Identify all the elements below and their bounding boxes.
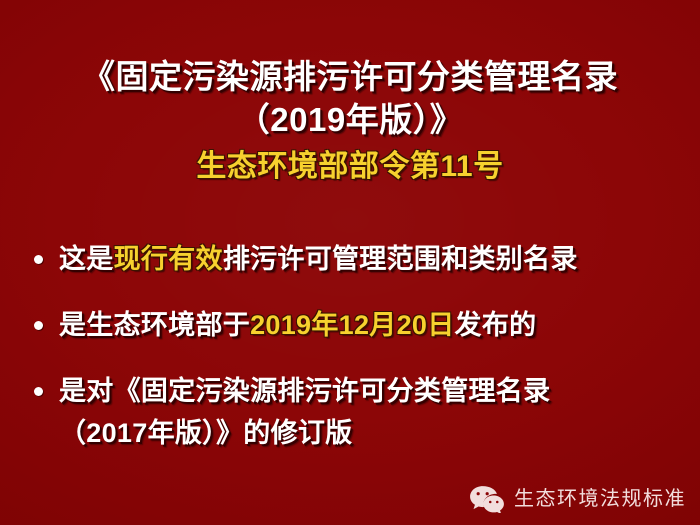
watermark: 生态环境法规标准	[469, 485, 686, 513]
list-item: 是生态环境部于2019年12月20日发布的	[34, 304, 680, 346]
plain-text: （2017年版）》的修订版	[59, 418, 352, 448]
list-item-line: 这是现行有效排污许可管理范围和类别名录	[59, 238, 680, 280]
watermark-label: 生态环境法规标准	[514, 487, 686, 511]
list-item-body: 是对《固定污染源排污许可分类管理名录（2017年版）》的修订版	[59, 370, 680, 454]
bullet-marker-icon	[34, 255, 43, 264]
highlighted-text: 2019年12月20日	[250, 310, 454, 340]
bullet-marker-icon	[34, 321, 43, 330]
page-title-line-2: （2019年版）》	[0, 98, 700, 141]
list-item: 是对《固定污染源排污许可分类管理名录（2017年版）》的修订版	[34, 370, 680, 454]
page-title-line-1: 《固定污染源排污许可分类管理名录	[0, 55, 700, 98]
title-block: 《固定污染源排污许可分类管理名录 （2019年版）》 生态环境部部令第11号	[0, 55, 700, 186]
plain-text: 是对《固定污染源排污许可分类管理名录	[59, 376, 550, 406]
list-item-line: 是生态环境部于2019年12月20日发布的	[59, 304, 680, 346]
bullet-list: 这是现行有效排污许可管理范围和类别名录是生态环境部于2019年12月20日发布的…	[34, 238, 680, 454]
list-item-line: （2017年版）》的修订版	[59, 412, 680, 454]
page-subtitle: 生态环境部部令第11号	[0, 148, 700, 186]
list-item: 这是现行有效排污许可管理范围和类别名录	[34, 238, 680, 280]
slide-canvas: 《固定污染源排污许可分类管理名录 （2019年版）》 生态环境部部令第11号 这…	[0, 0, 700, 525]
plain-text: 这是	[59, 244, 114, 274]
highlighted-text: 现行有效	[114, 244, 223, 274]
list-item-body: 是生态环境部于2019年12月20日发布的	[59, 304, 680, 346]
wechat-icon	[469, 485, 505, 513]
list-item-line: 是对《固定污染源排污许可分类管理名录	[59, 370, 680, 412]
list-item-body: 这是现行有效排污许可管理范围和类别名录	[59, 238, 680, 280]
plain-text: 是生态环境部于	[59, 310, 250, 340]
plain-text: 发布的	[455, 310, 537, 340]
bullet-marker-icon	[34, 387, 43, 396]
plain-text: 排污许可管理范围和类别名录	[223, 244, 578, 274]
